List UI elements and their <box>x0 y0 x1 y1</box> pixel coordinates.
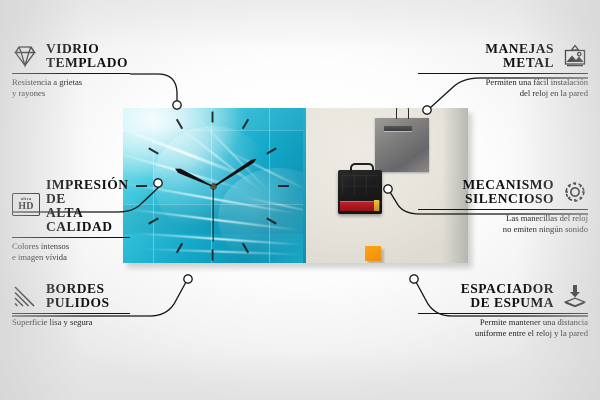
connector-node-bordes-pulidos <box>184 275 192 283</box>
connector-node-impresion <box>154 179 162 187</box>
feature-bordes-pulidos: BORDES PULIDOS Superficie lisa y segura <box>12 282 130 328</box>
ultra-hd-icon-main-text: HD <box>18 202 34 212</box>
feature-rule <box>418 313 588 314</box>
connector-node-manejas-metal <box>423 106 431 114</box>
infographic-canvas: VIDRIO TEMPLADO Resistencia a grietas y … <box>0 0 600 400</box>
feature-title: MANEJAS METAL <box>485 42 554 70</box>
feature-mecanismo-silencioso: MECANISMO SILENCIOSO Las manecillas del … <box>418 178 588 234</box>
diamond-icon <box>12 43 38 69</box>
feature-impresion-alta-calidad: ultra HD IMPRESIÓN DE ALTA CALIDAD Color… <box>12 178 130 262</box>
connector-vidrio-templado <box>130 74 177 104</box>
feature-vidrio-templado: VIDRIO TEMPLADO Resistencia a grietas y … <box>12 42 130 98</box>
feature-description: Permite mantener una distancia uniforme … <box>418 317 588 338</box>
feature-description: Permiten una fácil instalación del reloj… <box>418 77 588 98</box>
feature-rule <box>12 73 130 74</box>
feature-title: VIDRIO TEMPLADO <box>46 42 128 70</box>
gear-icon <box>562 179 588 205</box>
feature-rule <box>12 313 130 314</box>
feature-rule <box>12 237 130 238</box>
polished-edge-lines-icon <box>12 283 38 309</box>
connector-node-vidrio-templado <box>173 101 181 109</box>
feature-description: Colores intensos e imagen vívida <box>12 241 130 262</box>
ultra-hd-icon: ultra HD <box>12 193 38 219</box>
feature-title: BORDES PULIDOS <box>46 282 110 310</box>
foam-spacer-arrow-icon <box>562 283 588 309</box>
feature-description: Las manecillas del reloj no emiten ningú… <box>418 213 588 234</box>
feature-title: MECANISMO SILENCIOSO <box>463 178 555 206</box>
feature-description: Resistencia a grietas y rayones <box>12 77 130 98</box>
feature-espaciador-de-espuma: ESPACIADOR DE ESPUMA Permite mantener un… <box>418 282 588 338</box>
feature-rule <box>418 73 588 74</box>
feature-title: ESPACIADOR DE ESPUMA <box>461 282 554 310</box>
hanging-picture-frame-icon <box>562 43 588 69</box>
feature-title: IMPRESIÓN DE ALTA CALIDAD <box>46 178 130 234</box>
feature-rule <box>418 209 588 210</box>
connector-node-espaciador <box>410 275 418 283</box>
feature-manejas-metal: MANEJAS METAL Permiten una fácil instala… <box>418 42 588 98</box>
connector-node-mecanismo <box>384 185 392 193</box>
feature-description: Superficie lisa y segura <box>12 317 130 328</box>
